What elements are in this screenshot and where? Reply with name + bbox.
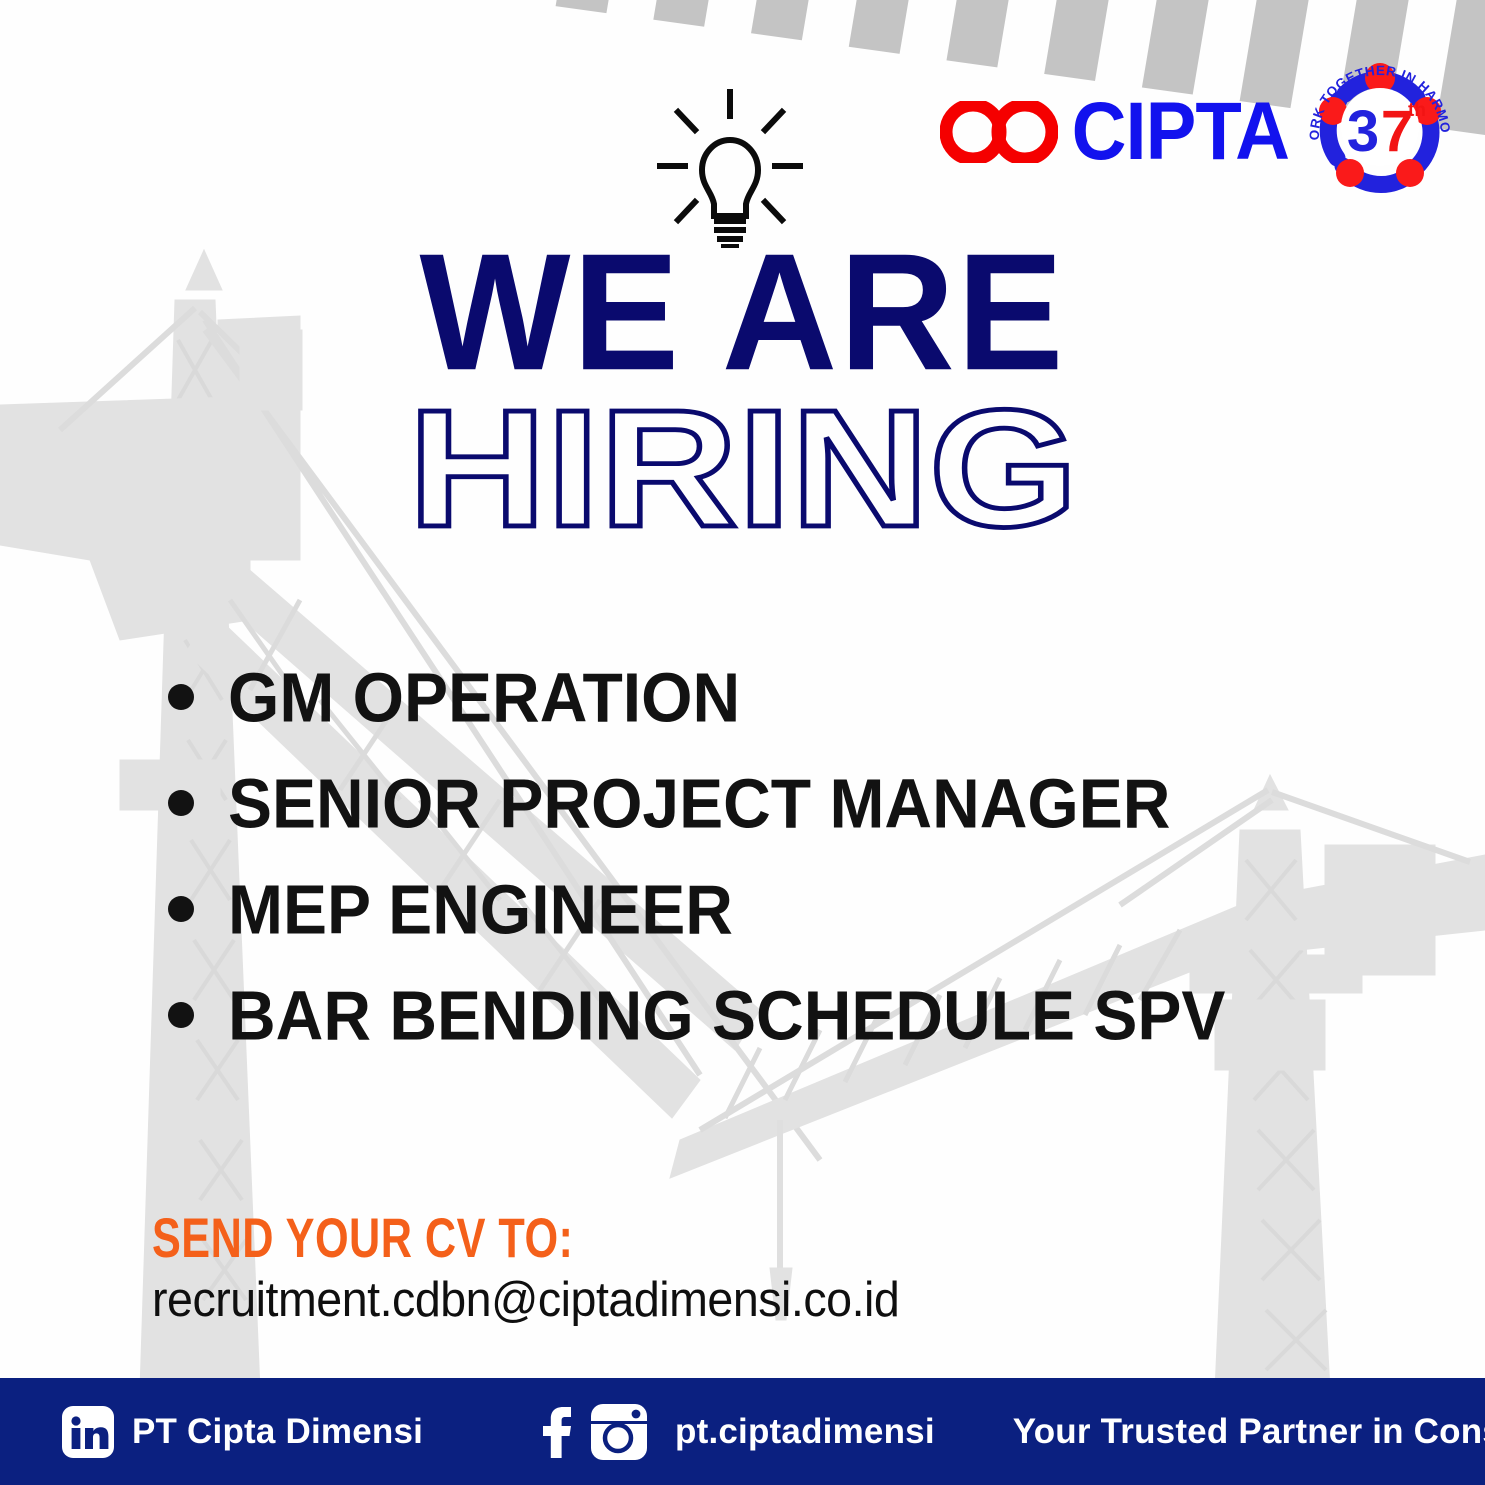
headline-we-are: WE ARE [0, 229, 1485, 395]
linkedin-group[interactable]: PT Cipta Dimensi [62, 1406, 423, 1458]
hiring-poster: CIPTA 3 7 th [0, 0, 1485, 1485]
social-handle: pt.ciptadimensi [675, 1412, 935, 1452]
facebook-icon[interactable] [535, 1404, 575, 1460]
job-title: BAR BENDING SCHEDULE SPV [228, 980, 1225, 1050]
bullet-icon [168, 896, 194, 922]
recruitment-email[interactable]: recruitment.cdbn@ciptadimensi.co.id [152, 1272, 899, 1328]
company-tagline: Your Trusted Partner in Construction [1013, 1412, 1485, 1452]
send-cv-heading: SEND YOUR CV TO: [152, 1205, 573, 1270]
anniversary-number-3: 3 [1347, 99, 1379, 164]
cipta-wordmark: CIPTA [1072, 95, 1289, 169]
list-item: MEP ENGINEER [168, 856, 1425, 962]
job-title: MEP ENGINEER [228, 874, 733, 944]
linkedin-handle: PT Cipta Dimensi [132, 1412, 423, 1452]
instagram-icon[interactable] [591, 1404, 647, 1460]
list-item: GM OPERATION [168, 644, 1425, 750]
bullet-icon [168, 1002, 194, 1028]
job-title: GM OPERATION [228, 662, 740, 732]
bullet-icon [168, 790, 194, 816]
bullet-icon [168, 684, 194, 710]
company-logo: CIPTA 3 7 th [940, 60, 1455, 204]
headline-hiring-text: HIRING [408, 390, 1078, 555]
cipta-infinity-icon [940, 101, 1058, 163]
list-item: BAR BENDING SCHEDULE SPV [168, 962, 1425, 1068]
footer-bar: PT Cipta Dimensi pt.ciptadimensi Your Tr… [0, 1378, 1485, 1485]
headline-hiring: HIRING [0, 390, 1485, 555]
linkedin-icon[interactable] [62, 1406, 114, 1458]
tagline-group: Your Trusted Partner in Construction [1013, 1412, 1485, 1452]
anniversary-37-badge: 3 7 th WORK TOGETHER IN HARMONY [1305, 54, 1455, 204]
anniversary-suffix: th [1408, 100, 1426, 121]
job-title: SENIOR PROJECT MANAGER [228, 768, 1170, 838]
job-list: GM OPERATION SENIOR PROJECT MANAGER MEP … [168, 644, 1425, 1068]
social-group[interactable]: pt.ciptadimensi [535, 1404, 935, 1460]
list-item: SENIOR PROJECT MANAGER [168, 750, 1425, 856]
